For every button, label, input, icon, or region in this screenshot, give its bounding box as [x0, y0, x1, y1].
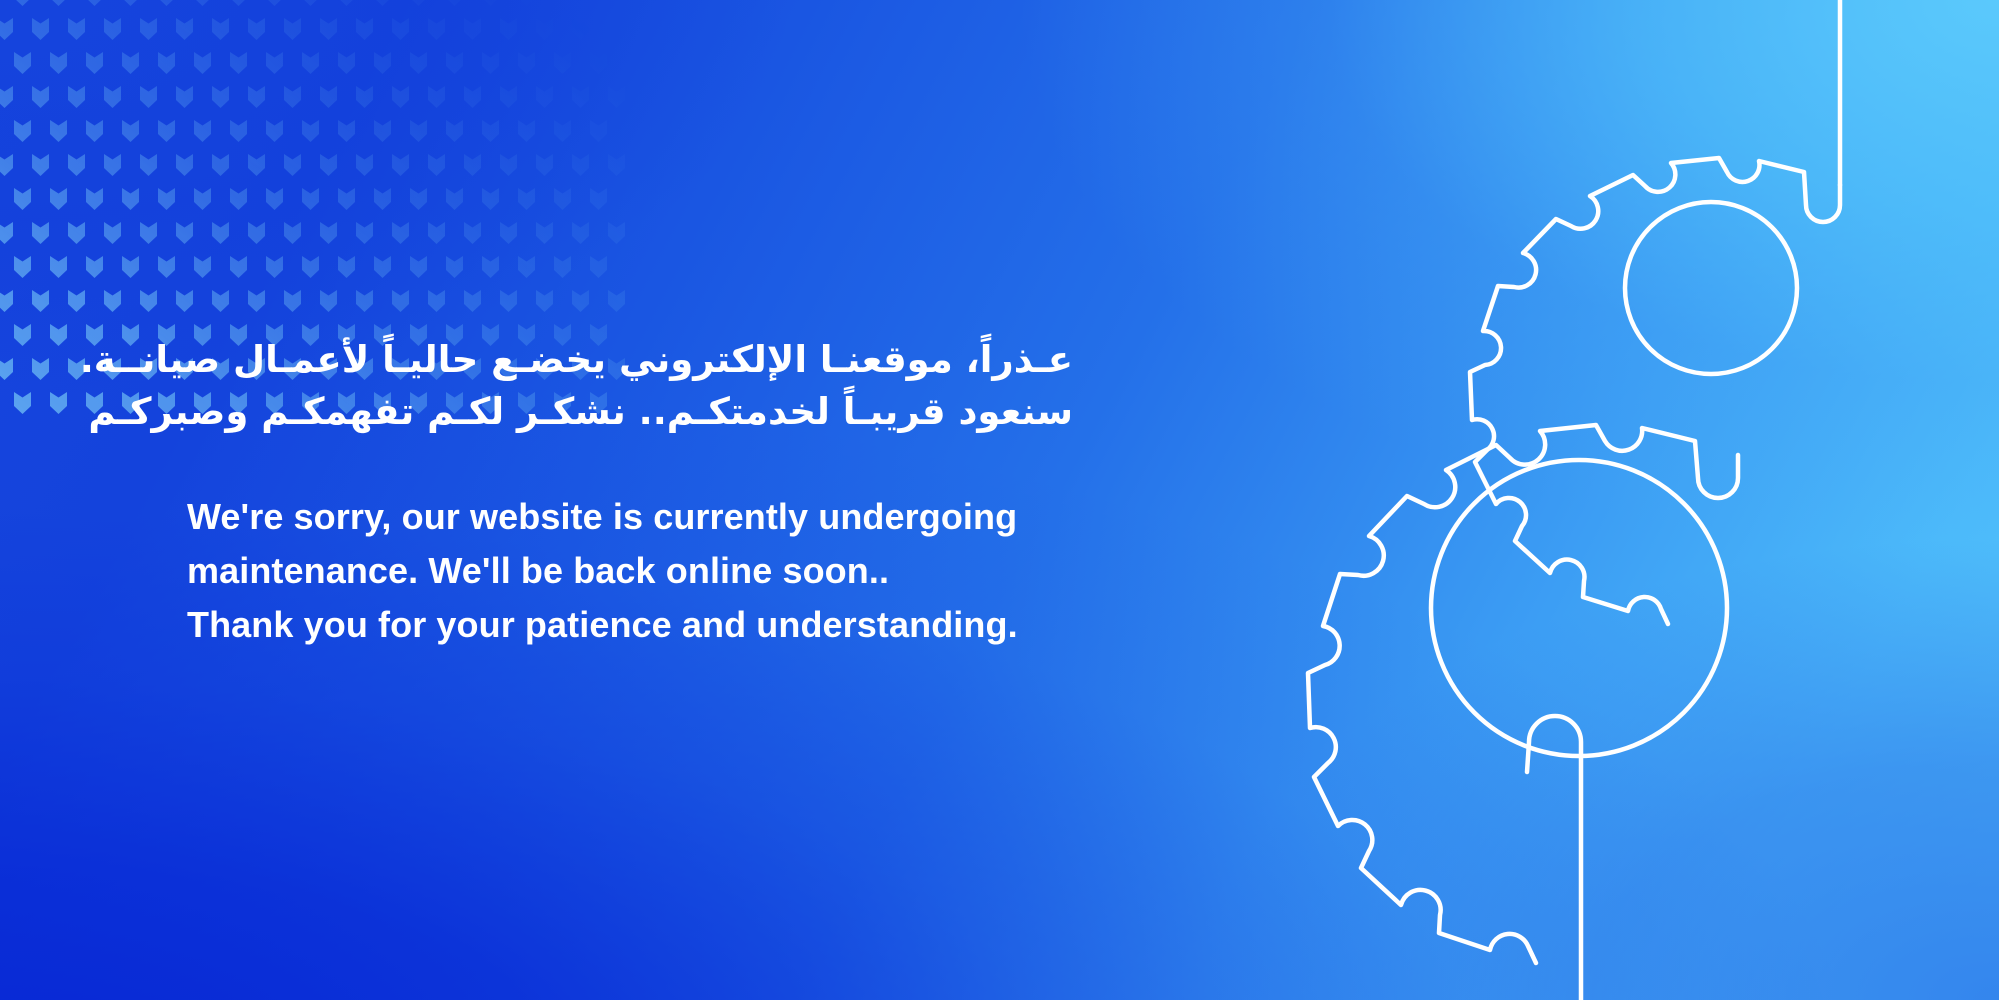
- english-message-line-1: We're sorry, our website is currently un…: [187, 490, 1187, 544]
- maintenance-message: عـذراً، موقعنـا الإلكتروني يخضـع حاليـاً…: [187, 334, 1187, 652]
- english-message-line-2: maintenance. We'll be back online soon..: [187, 544, 1187, 598]
- arabic-message-line-1: عـذراً، موقعنـا الإلكتروني يخضـع حاليـاً…: [133, 334, 1073, 386]
- english-message: We're sorry, our website is currently un…: [187, 490, 1187, 652]
- english-message-line-3: Thank you for your patience and understa…: [187, 598, 1187, 652]
- arabic-message: عـذراً، موقعنـا الإلكتروني يخضـع حاليـاً…: [133, 334, 1073, 438]
- arabic-message-line-2: سنعود قريبـاً لخدمتكـم.. نشكـر لكـم تفهم…: [133, 386, 1073, 438]
- maintenance-page: عـذراً، موقعنـا الإلكتروني يخضـع حاليـاً…: [0, 0, 1999, 1000]
